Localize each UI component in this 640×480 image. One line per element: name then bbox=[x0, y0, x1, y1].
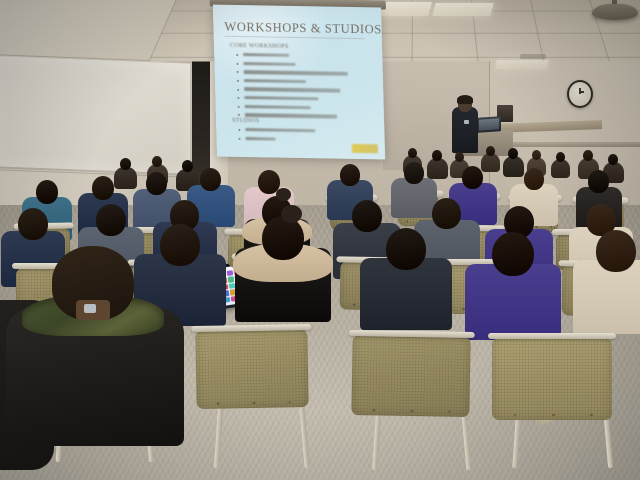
person-head bbox=[588, 170, 609, 193]
person-head bbox=[160, 224, 200, 266]
person-torso bbox=[503, 156, 524, 177]
person-head bbox=[462, 166, 483, 189]
bullet-text bbox=[244, 87, 340, 92]
chair-stud bbox=[410, 409, 413, 412]
person-torso bbox=[551, 159, 570, 178]
chair-armrest-rail bbox=[488, 333, 616, 339]
person-head bbox=[583, 150, 593, 161]
chair bbox=[351, 335, 470, 417]
chair-stud bbox=[535, 226, 538, 229]
chair-stud bbox=[217, 402, 220, 405]
person-head bbox=[596, 230, 636, 272]
person-hair-bun bbox=[276, 188, 291, 201]
person-head bbox=[182, 160, 193, 172]
person-head bbox=[524, 168, 544, 190]
chair bbox=[492, 338, 612, 420]
chair-stud bbox=[514, 414, 517, 417]
slide-logo bbox=[352, 144, 378, 153]
bullet-dot bbox=[237, 97, 239, 99]
person-hair-bun bbox=[281, 205, 302, 223]
person-head bbox=[404, 162, 424, 184]
person-head bbox=[120, 158, 131, 170]
bullet-text bbox=[245, 105, 311, 110]
person-head bbox=[340, 164, 360, 186]
person-head bbox=[432, 150, 442, 161]
chair-stud bbox=[406, 220, 409, 223]
bullet-dot bbox=[238, 129, 240, 131]
person-head bbox=[508, 148, 518, 159]
chair-back bbox=[351, 335, 470, 417]
bullet-dot bbox=[237, 80, 239, 82]
chair bbox=[195, 329, 308, 409]
presenter-badge bbox=[464, 120, 469, 124]
person-torso bbox=[427, 158, 448, 179]
bullet-text bbox=[244, 79, 306, 83]
bullet-text bbox=[246, 137, 276, 141]
bullet-dot bbox=[237, 88, 239, 90]
person-head bbox=[92, 176, 114, 200]
bullet-dot bbox=[238, 114, 240, 116]
bullet-dot bbox=[238, 106, 240, 108]
person-torso bbox=[481, 153, 500, 172]
ceiling-light-panel bbox=[432, 3, 493, 16]
person-torso bbox=[573, 260, 640, 334]
bullet-text bbox=[244, 96, 318, 101]
person-head bbox=[532, 150, 541, 160]
presenter-hair bbox=[457, 95, 473, 104]
person-head bbox=[608, 154, 618, 165]
presenter-laptop-screen bbox=[479, 118, 499, 130]
app-icon bbox=[227, 270, 233, 276]
hood-clip bbox=[84, 304, 96, 313]
bullet-text bbox=[243, 53, 289, 57]
bullet-dot bbox=[236, 54, 238, 56]
slide-studios-bullet-list bbox=[238, 126, 371, 145]
chair-stud bbox=[353, 303, 356, 306]
person-head bbox=[152, 156, 162, 167]
ceiling-light-panel bbox=[495, 60, 549, 69]
clock-minute-hand bbox=[579, 91, 584, 93]
bullet-dot bbox=[236, 63, 238, 65]
bullet-dot bbox=[237, 71, 239, 73]
slide-title: WORKSHOPS & STUDIOS bbox=[224, 20, 382, 38]
app-icon bbox=[228, 277, 234, 283]
slide-section-core: CORE WORKSHOPS bbox=[230, 43, 289, 50]
bullet-dot bbox=[239, 138, 241, 140]
person-head bbox=[492, 232, 534, 276]
whiteboard-frame bbox=[0, 54, 194, 178]
chair-stud bbox=[373, 409, 376, 412]
person-head bbox=[200, 168, 221, 191]
person-head bbox=[18, 208, 48, 240]
slide-core-bullet-list bbox=[236, 51, 370, 122]
wall-clock-icon bbox=[567, 80, 593, 108]
chair-stud bbox=[253, 401, 256, 404]
bullet-text bbox=[245, 128, 315, 133]
person-head bbox=[432, 198, 461, 229]
chair-back bbox=[195, 329, 308, 409]
wall-rail bbox=[492, 142, 640, 147]
person-head bbox=[386, 228, 426, 270]
chair-stud bbox=[590, 414, 593, 417]
chair-back bbox=[492, 338, 612, 420]
person-head bbox=[352, 200, 382, 232]
person-head bbox=[408, 148, 417, 158]
person-head bbox=[556, 152, 565, 162]
person-head bbox=[455, 152, 464, 162]
person-torso bbox=[114, 167, 137, 190]
presenter-body bbox=[452, 107, 478, 153]
person-head bbox=[262, 216, 304, 260]
presentation-slide: WORKSHOPS & STUDIOS CORE WORKSHOPS STUDI… bbox=[213, 5, 385, 160]
person-head bbox=[486, 146, 495, 156]
slide-section-studios: STUDIOS bbox=[232, 118, 260, 124]
person-head bbox=[96, 204, 126, 236]
projection-screen: WORKSHOPS & STUDIOS CORE WORKSHOPS STUDI… bbox=[213, 5, 385, 160]
bullet-text bbox=[243, 62, 295, 66]
person-head bbox=[36, 180, 58, 204]
person-head bbox=[146, 172, 167, 195]
bullet-text bbox=[244, 70, 348, 75]
ceiling-projector-icon bbox=[592, 4, 638, 20]
app-icon bbox=[229, 283, 235, 289]
chair-stud bbox=[552, 414, 555, 417]
lecture-hall-photo: WORKSHOPS & STUDIOS CORE WORKSHOPS STUDI… bbox=[0, 0, 640, 480]
ceiling-vent bbox=[520, 54, 546, 59]
